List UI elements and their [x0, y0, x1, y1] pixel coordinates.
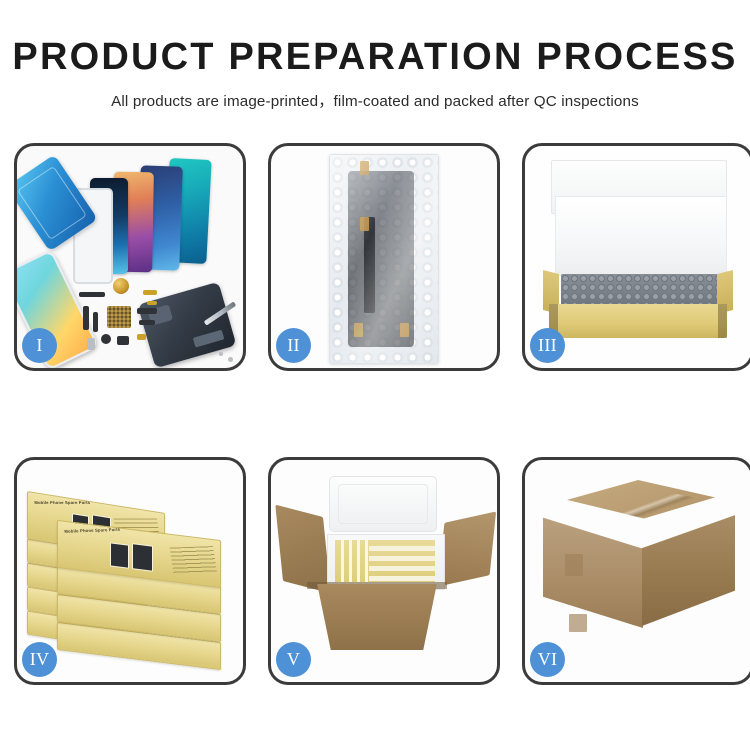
foam-sheet	[555, 196, 727, 276]
product-preparation-page: PRODUCT PREPARATION PROCESS All products…	[0, 0, 750, 750]
sealed-carton	[543, 480, 735, 658]
process-step-panel-1[interactable]: I	[14, 143, 246, 371]
bubble-wrap-bag-icon	[329, 154, 439, 364]
wrapped-flex-cable	[364, 217, 375, 313]
tape-tab	[400, 323, 409, 337]
process-step-panel-2[interactable]: II	[268, 143, 500, 371]
box-gap	[365, 540, 368, 582]
carton-left-face	[543, 508, 643, 628]
ribbon-part	[137, 308, 157, 314]
wrapped-part	[348, 171, 414, 347]
box-gap	[357, 540, 360, 582]
carton-body	[309, 584, 445, 650]
step-badge-6: VI	[530, 642, 565, 677]
box-gap	[349, 540, 352, 582]
page-title: PRODUCT PREPARATION PROCESS	[0, 38, 750, 78]
box-spec-text-block	[170, 546, 218, 574]
carton-flap-left	[275, 505, 330, 594]
step-badge-4: IV	[22, 642, 57, 677]
box-gap	[369, 556, 435, 561]
process-step-panel-3[interactable]: III	[522, 143, 750, 371]
page-subtitle: All products are image-printed，film-coat…	[0, 89, 750, 111]
speaker-coin-icon	[113, 278, 129, 294]
speaker-module-part	[117, 336, 129, 345]
tape-tab	[354, 323, 363, 337]
process-step-panel-5[interactable]: V	[268, 457, 500, 685]
step-badge-2: II	[276, 328, 311, 363]
carton-tape-upper	[565, 554, 583, 576]
box-gap	[369, 576, 435, 581]
camera-lens-part	[101, 334, 111, 344]
box-label-text: Mobile Phone Spare Parts	[34, 500, 91, 505]
inner-box-front	[549, 304, 727, 338]
vibrator-part	[137, 334, 146, 340]
packed-retail-boxes	[335, 540, 435, 582]
screw-part	[228, 357, 233, 362]
page-header: PRODUCT PREPARATION PROCESS All products…	[0, 0, 750, 111]
process-step-panel-4[interactable]: Mobile Phone Spare Parts Mobile Phone Sp…	[14, 457, 246, 685]
step-badge-5: V	[276, 642, 311, 677]
bubble-wrapped-items	[561, 274, 719, 307]
carton-right-face	[642, 508, 735, 626]
tape-tab	[360, 217, 369, 231]
foam-lid	[329, 476, 437, 532]
antenna-part	[93, 312, 98, 332]
chip-grid-icon	[107, 306, 131, 328]
carton-flap-right	[438, 511, 496, 586]
process-step-grid: I II	[14, 143, 736, 685]
box-gap	[369, 566, 435, 571]
carton-tape-lower	[569, 614, 587, 632]
box-window-icon	[110, 542, 129, 568]
step-badge-3: III	[530, 328, 565, 363]
process-step-panel-6[interactable]: VI	[522, 457, 750, 685]
box-gap	[341, 540, 344, 582]
sim-tray-part	[87, 338, 95, 350]
step-badge-1: I	[22, 328, 57, 363]
tape-tab	[360, 161, 369, 175]
box-window-icon	[132, 543, 153, 572]
flex-cable-part	[79, 292, 105, 297]
gold-bracket-part	[147, 301, 157, 305]
side-flex-part	[83, 306, 89, 330]
box-label-text: Mobile Phone Spare Parts	[64, 527, 121, 534]
box-gap	[369, 546, 435, 551]
inner-box-edge-right	[718, 304, 727, 338]
screw-part	[219, 352, 223, 356]
connector-part	[139, 320, 155, 325]
retail-box-stack: Mobile Phone Spare Parts Mobile Phone Sp…	[23, 474, 239, 670]
gold-connector-part	[143, 290, 157, 295]
